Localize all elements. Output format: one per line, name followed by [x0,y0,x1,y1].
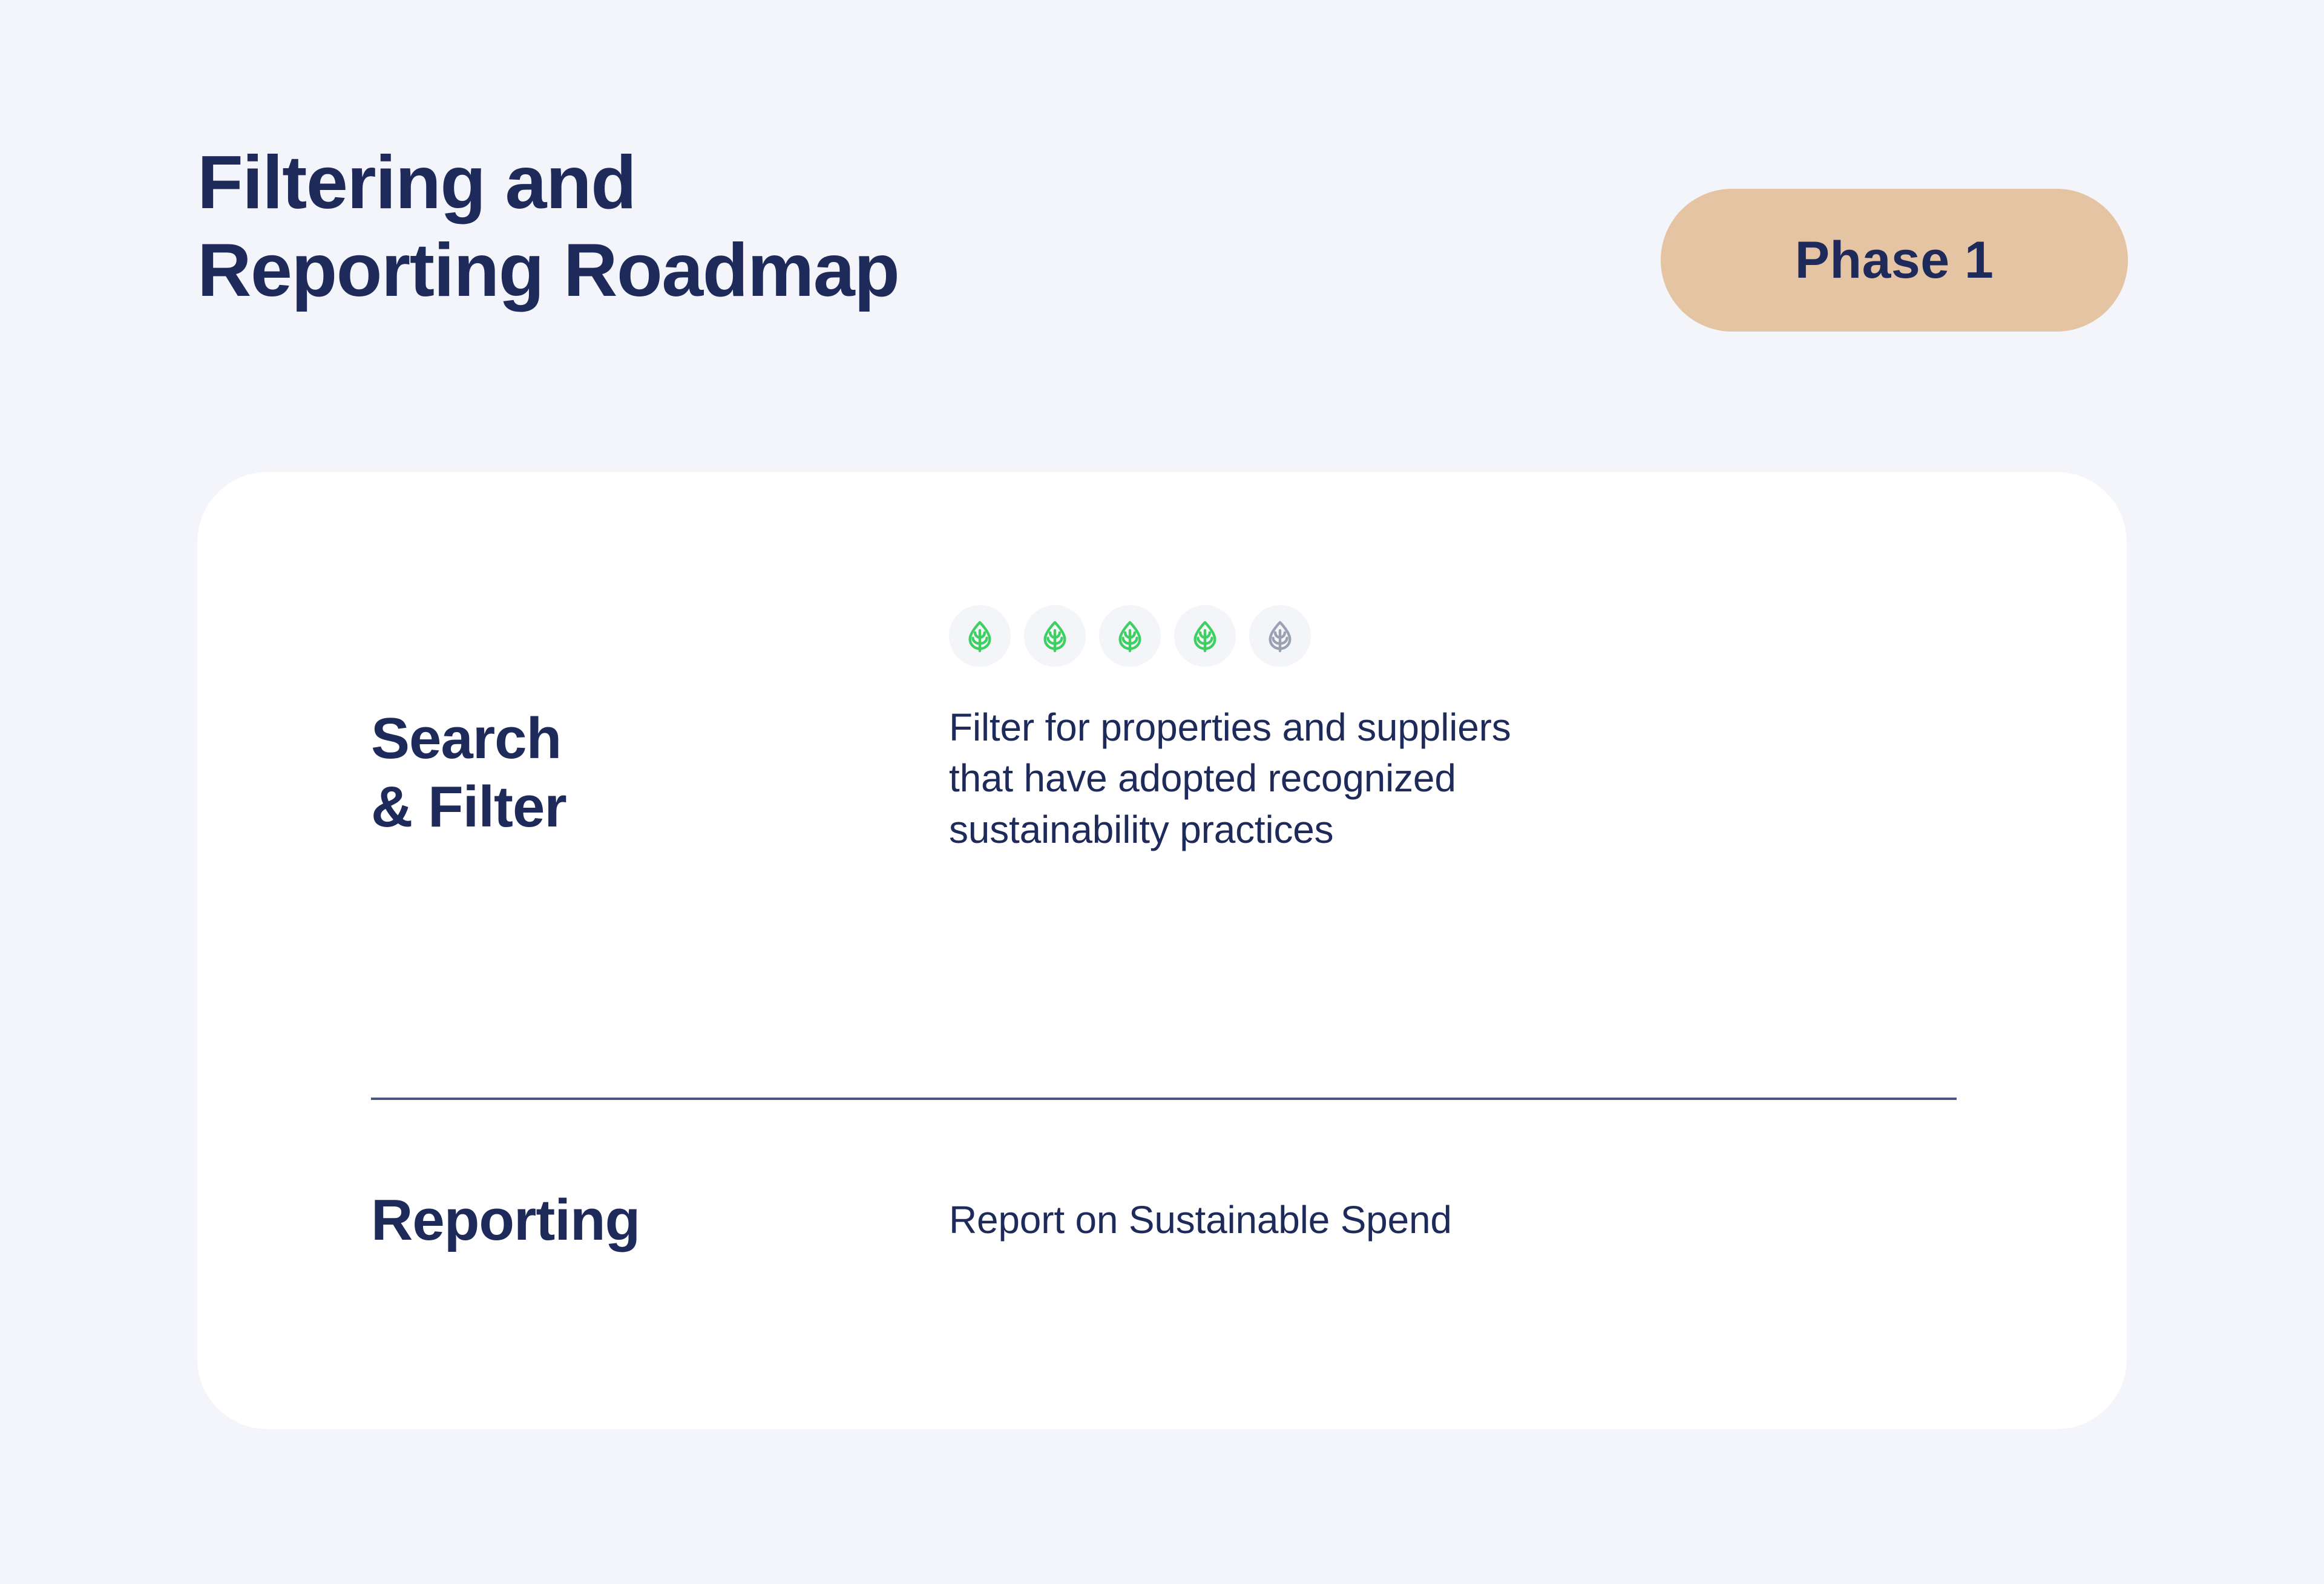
row-description-reporting: Report on Sustainable Spend [949,1194,1957,1245]
row-label-search-filter: Search & Filter [371,605,946,842]
leaf-rating-item-1[interactable] [949,605,1011,667]
leaf-icon [1112,618,1147,653]
leaf-rating-item-3[interactable] [1099,605,1161,667]
roadmap-card: Search & Filter [197,472,2127,1429]
leaf-icon [962,618,997,653]
row-body-reporting: Report on Sustainable Spend [946,1194,1957,1245]
leaf-icon [1037,618,1072,653]
row-divider [371,1098,1957,1100]
leaf-rating [949,605,1957,667]
row-search-filter: Search & Filter [371,605,1957,855]
page-title: Filtering and Reporting Roadmap [197,139,899,315]
row-description-search-filter: Filter for properties and suppliers that… [949,702,1957,855]
row-label-reporting: Reporting [371,1186,946,1254]
card-content: Search & Filter [197,472,2127,1429]
leaf-icon [1187,618,1223,653]
leaf-icon [1262,618,1298,653]
leaf-rating-item-2[interactable] [1024,605,1086,667]
leaf-rating-item-4[interactable] [1174,605,1236,667]
row-reporting: Reporting Report on Sustainable Spend [371,1186,1957,1254]
roadmap-slide: Filtering and Reporting Roadmap Phase 1 … [0,0,2324,1584]
phase-badge: Phase 1 [1661,189,2128,332]
header: Filtering and Reporting Roadmap Phase 1 [197,139,2128,339]
row-body-search-filter: Filter for properties and suppliers that… [946,605,1957,855]
leaf-rating-item-5[interactable] [1249,605,1311,667]
phase-badge-label: Phase 1 [1795,231,1994,290]
